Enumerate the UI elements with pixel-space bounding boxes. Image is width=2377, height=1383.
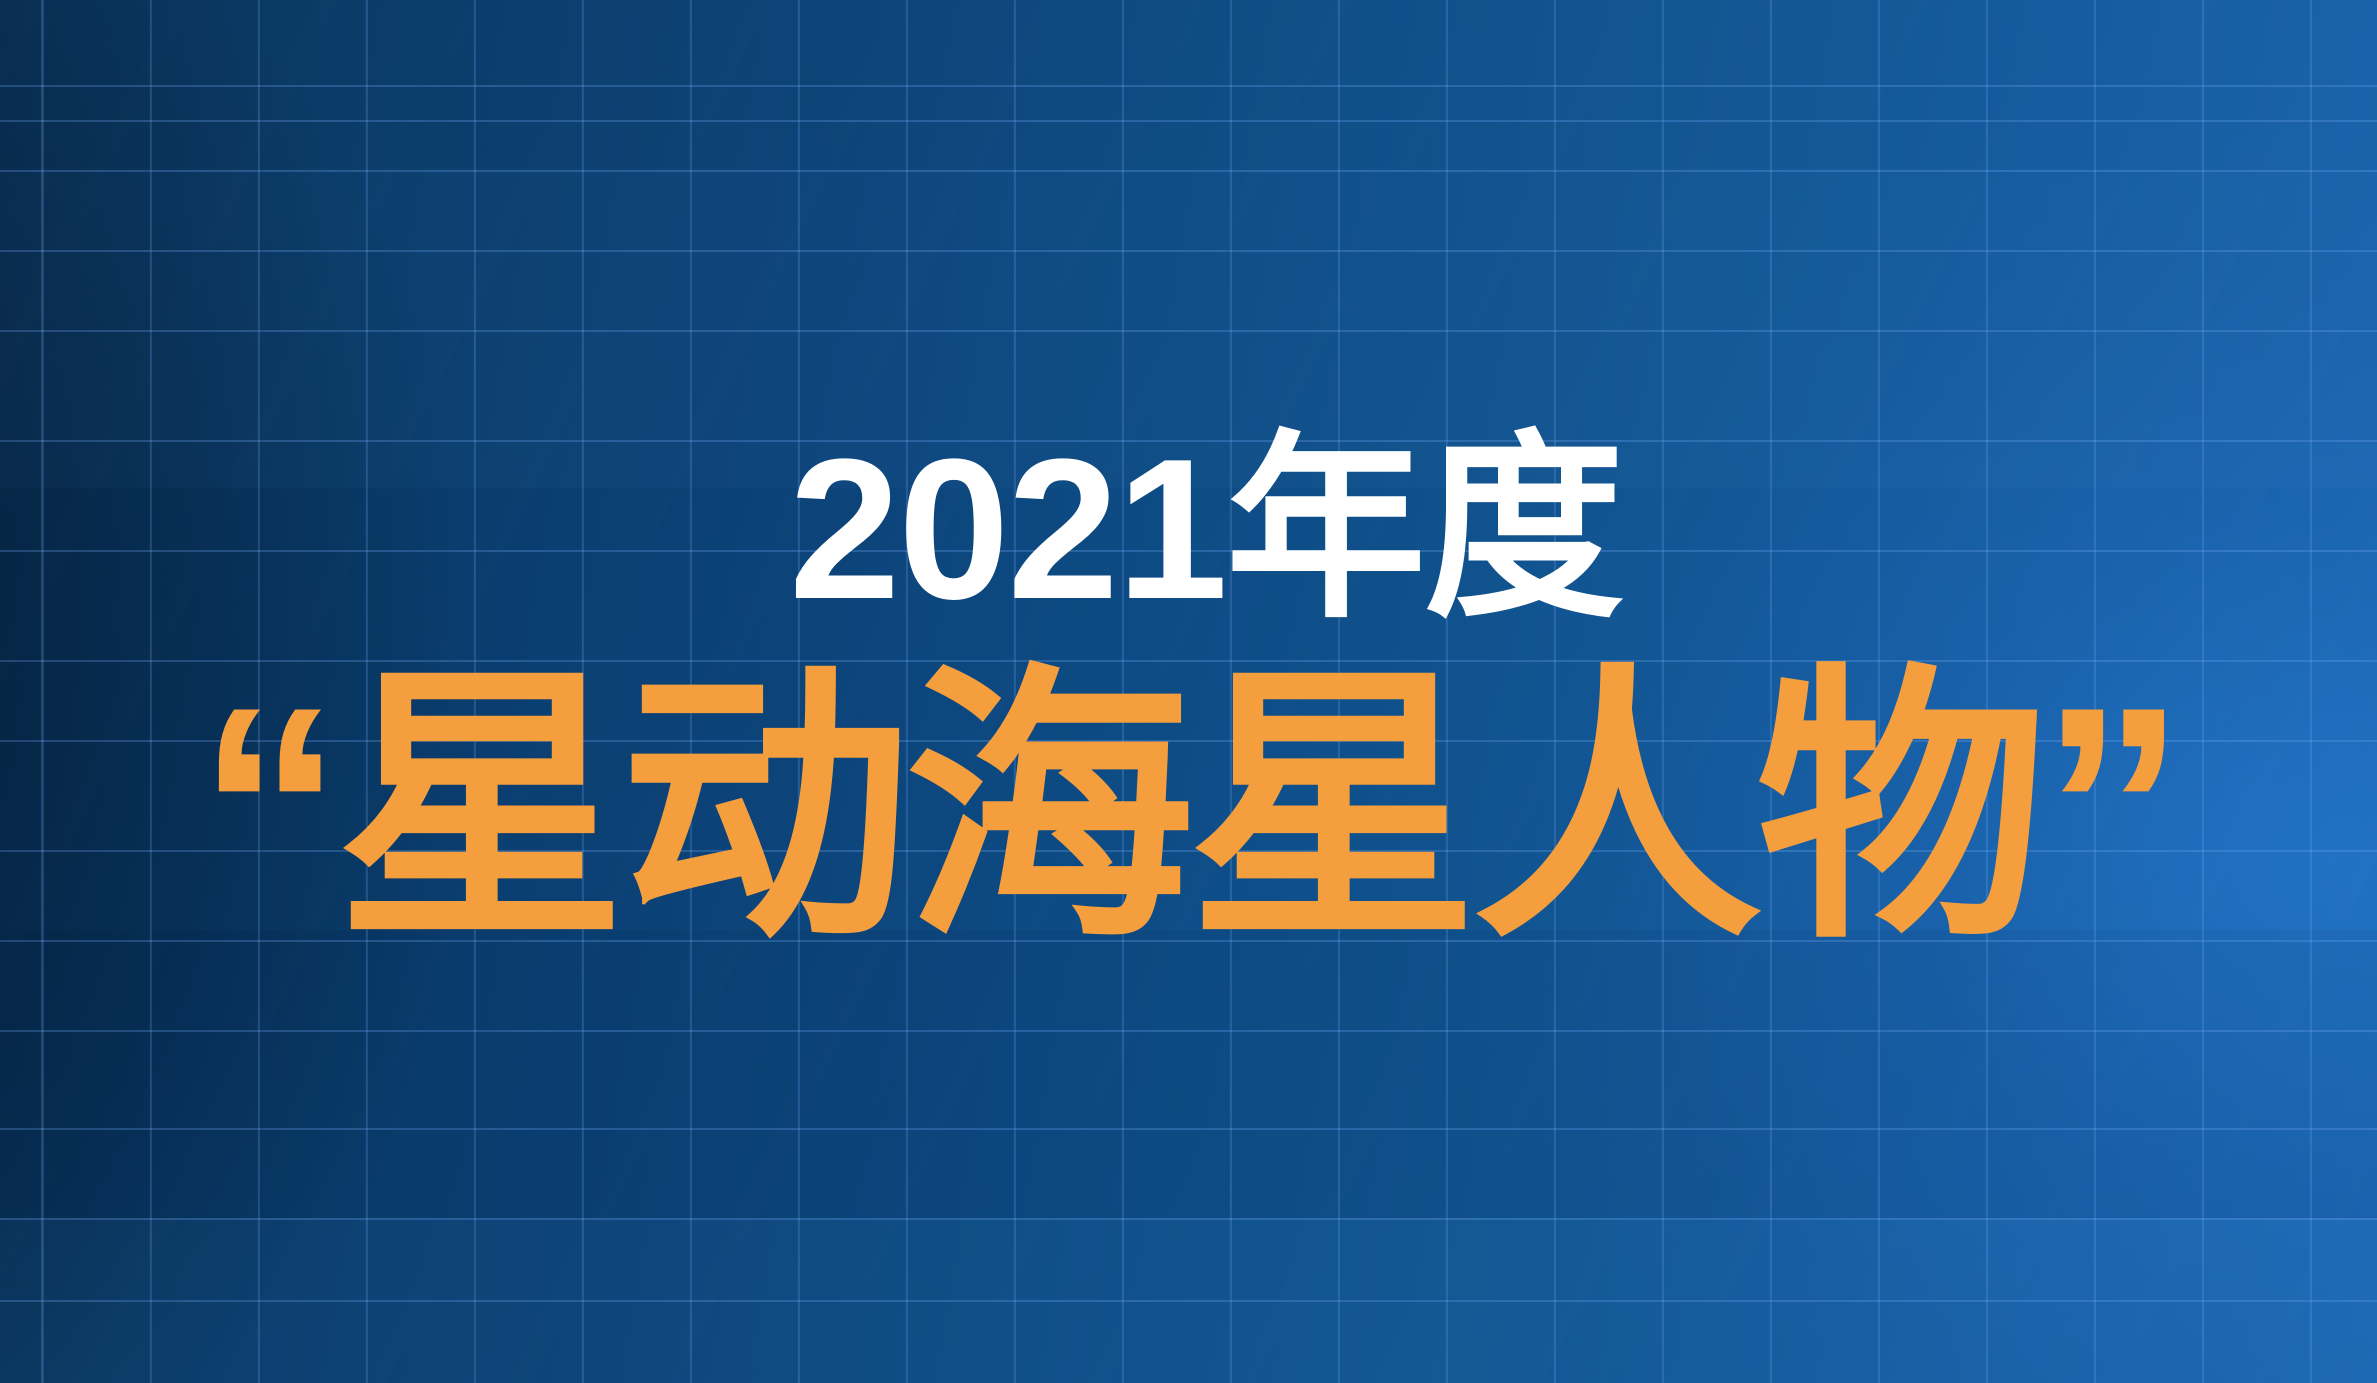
poster-year-title: 2021年度 bbox=[789, 430, 1622, 630]
poster-canvas: 2021年度 “星动海星人物” bbox=[0, 0, 2377, 1383]
poster-award-title: “星动海星人物” bbox=[198, 664, 2180, 954]
poster-content: 2021年度 “星动海星人物” bbox=[0, 0, 2377, 1383]
